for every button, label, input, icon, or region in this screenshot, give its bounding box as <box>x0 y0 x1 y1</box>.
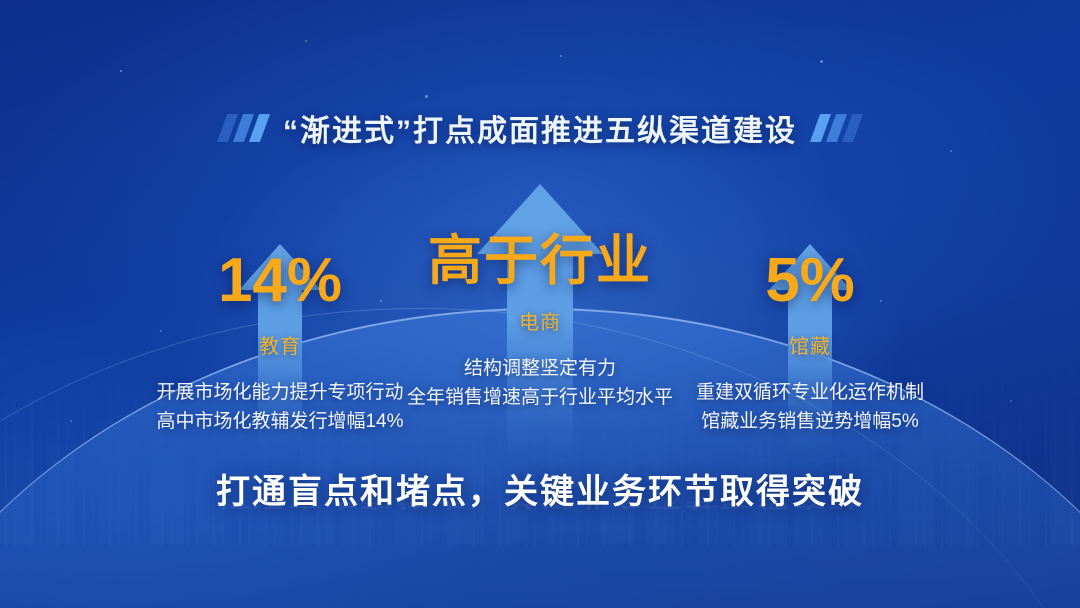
description-line: 馆藏业务销售逆势增幅5% <box>620 408 1000 437</box>
metric-label-collection: 馆藏 <box>620 330 1000 359</box>
metric-description-collection: 重建双循环专业化运作机制 馆藏业务销售逆势增幅5% <box>620 379 1000 436</box>
column-collection: 5% 馆藏 重建双循环专业化运作机制 馆藏业务销售逆势增幅5% <box>620 250 1000 436</box>
slide-root: “渐进式”打点成面推进五纵渠道建设 14% 教育 开展市场化能力提升专项行动 高… <box>0 0 1080 608</box>
description-line: 重建双循环专业化运作机制 <box>620 379 1000 408</box>
bottom-banner: 打通盲点和堵点，关键业务环节取得突破 打通盲点和堵点，关键业务环节取得突破 <box>0 464 1080 564</box>
bottom-banner-reflection: 打通盲点和堵点，关键业务环节取得突破 <box>0 488 1080 515</box>
metric-value-collection: 5% <box>620 250 1000 312</box>
